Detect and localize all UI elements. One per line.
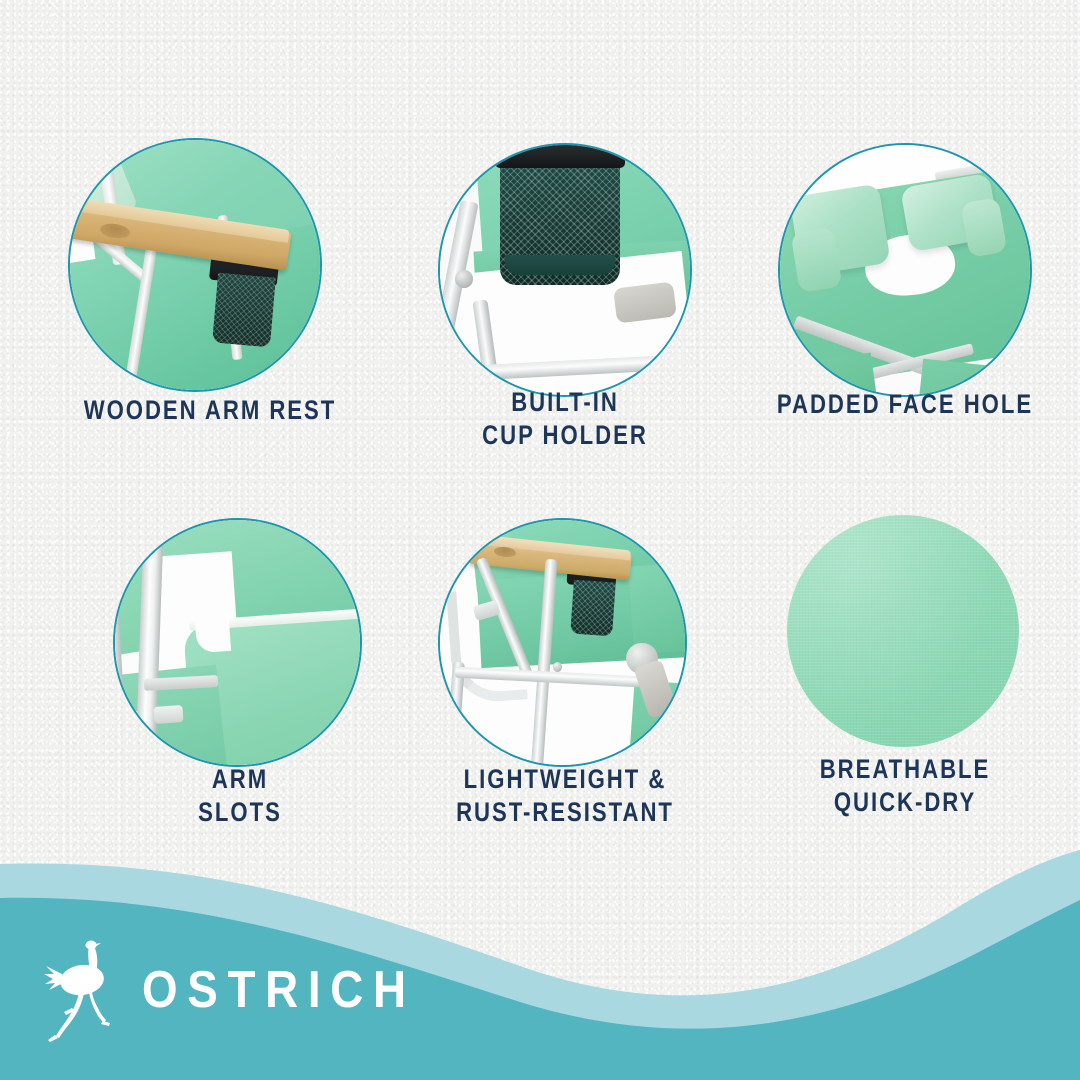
feature-cell-padded-face-hole: PADDED FACE HOLE <box>735 140 1075 440</box>
photo-arm-slots <box>115 520 360 765</box>
photo-layer-foam-pad-left-front <box>791 227 842 293</box>
photo-layer-cup-holder-ring <box>495 145 625 168</box>
feature-caption-padded-face-hole: PADDED FACE HOLE <box>766 388 1045 421</box>
feature-cell-breathable-quick-dry: BREATHABLE QUICK-DRY <box>735 510 1075 830</box>
photo-layer-mesh-pocket <box>570 580 615 637</box>
photo-layer-mesh-pocket <box>212 273 275 348</box>
photo-layer-mesh-pocket-base <box>505 255 615 275</box>
photo-layer-fabric-right <box>628 562 685 655</box>
feature-cell-built-in-cup-holder: BUILT-IN CUP HOLDER <box>395 140 735 460</box>
photo-layer-pivot-knob <box>455 270 473 288</box>
feature-photo-arm-slots <box>115 520 360 765</box>
feature-cell-wooden-arm-rest: WOODEN ARM REST <box>40 140 380 440</box>
photo-layer-plastic-cap <box>613 281 677 323</box>
footer-wave-banner: OSTRICH <box>0 850 1080 1080</box>
photo-padded-face-hole <box>780 145 1030 395</box>
feature-caption-wooden-arm-rest: WOODEN ARM REST <box>71 394 350 427</box>
feature-photo-built-in-cup-holder <box>440 145 690 395</box>
brand-logo: OSTRICH <box>44 938 453 1042</box>
feature-caption-built-in-cup-holder: BUILT-IN CUP HOLDER <box>426 386 705 452</box>
feature-photo-breathable-quick-dry <box>787 515 1019 747</box>
feature-cell-arm-slots: ARM SLOTS <box>70 515 410 835</box>
feature-photo-wooden-arm-rest <box>70 140 320 390</box>
feature-photo-lightweight-rust-resistant <box>440 520 685 765</box>
brand-name: OSTRICH <box>142 964 416 1016</box>
photo-layer-frame-clip <box>154 705 185 724</box>
photo-lightweight-rust-resistant <box>440 520 685 765</box>
ostrich-icon <box>44 938 120 1042</box>
feature-photo-padded-face-hole <box>780 145 1030 395</box>
photo-wooden-arm-rest <box>70 140 320 390</box>
feature-caption-lightweight-rust-resistant: LIGHTWEIGHT & RUST-RESISTANT <box>426 763 705 829</box>
photo-built-in-cup-holder <box>440 145 690 395</box>
feature-cell-lightweight-rust-resistant: LIGHTWEIGHT & RUST-RESISTANT <box>395 515 735 835</box>
feature-caption-arm-slots: ARM SLOTS <box>101 763 380 829</box>
feature-caption-breathable-quick-dry: BREATHABLE QUICK-DRY <box>766 753 1045 819</box>
photo-layer-fabric-highlight <box>787 515 1019 747</box>
photo-breathable-quick-dry <box>787 515 1019 747</box>
